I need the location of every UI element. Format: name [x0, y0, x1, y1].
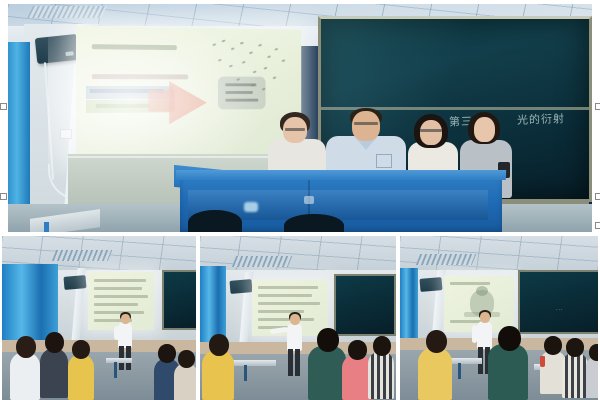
audience-head — [284, 214, 344, 232]
top-margin — [0, 0, 600, 4]
ceiling-vent — [27, 6, 107, 18]
mid-margin — [0, 232, 600, 236]
desk — [106, 358, 132, 363]
left-margin — [0, 0, 8, 236]
thumb-lecture-left[interactable] — [2, 236, 196, 400]
podium-light — [244, 202, 258, 212]
selection-handle-left-bottom[interactable] — [0, 193, 7, 200]
glasses-icon — [420, 129, 442, 132]
front-desk-leg — [44, 222, 49, 232]
water-bottle — [540, 356, 545, 367]
selection-handle-right-top[interactable] — [595, 103, 600, 110]
selection-handle-left-top[interactable] — [0, 103, 7, 110]
instructor — [282, 312, 308, 376]
main-podium-photo[interactable]: 第三章 光的衍射 — [8, 4, 592, 232]
thumb-lecture-center[interactable] — [200, 236, 396, 400]
audience-head — [188, 210, 242, 232]
glasses-icon — [285, 128, 305, 131]
panel-separator — [196, 236, 200, 400]
selection-handle-right-bottom[interactable] — [595, 193, 600, 200]
podium-knob — [304, 196, 314, 204]
panel-separator — [396, 236, 400, 400]
desk — [448, 358, 482, 364]
blackboard — [162, 270, 196, 330]
wall-speaker-icon — [229, 279, 252, 294]
selection-handle-right-lower[interactable] — [595, 222, 600, 229]
panel-separator — [0, 236, 2, 400]
right-margin — [592, 0, 600, 236]
wall-speaker-icon — [63, 275, 86, 290]
thumb-lecture-right[interactable]: ... — [400, 236, 598, 400]
desk — [230, 360, 276, 366]
chalk-text-topic: 光的衍射 — [517, 110, 566, 128]
window-curtain — [8, 42, 30, 230]
wall-speaker-icon — [419, 277, 442, 292]
blackboard — [334, 274, 396, 336]
curtain — [200, 266, 226, 344]
thumbnail-row: ... — [0, 236, 600, 400]
photo-collage[interactable]: 第三章 光的衍射 — [0, 0, 600, 400]
glasses-icon — [354, 122, 378, 125]
blackboard: ... — [518, 270, 598, 334]
podium-top — [176, 170, 506, 180]
